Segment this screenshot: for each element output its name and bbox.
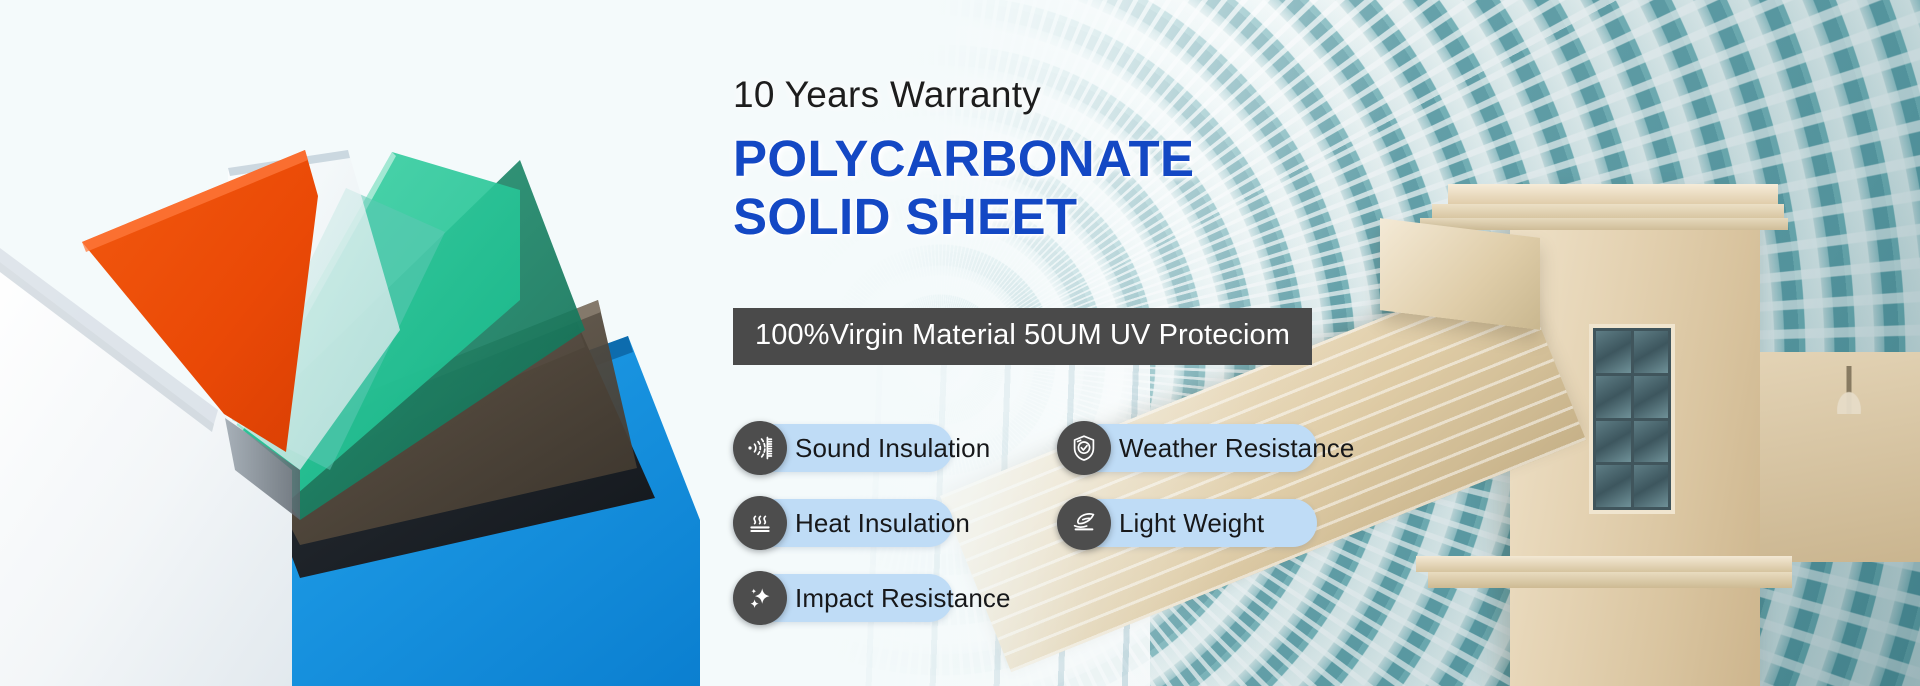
feature-light-weight[interactable]: Light Weight bbox=[1057, 499, 1317, 547]
tower-base-1 bbox=[1416, 556, 1792, 572]
tower-cornice-1 bbox=[1448, 184, 1778, 204]
feature-label: Heat Insulation bbox=[795, 508, 970, 539]
feature-heat-insulation[interactable]: Heat Insulation bbox=[733, 499, 953, 547]
subtitle-text: 100%Virgin Material 50UM UV Proteciom bbox=[755, 319, 1290, 351]
product-photo bbox=[0, 0, 700, 686]
tower-base-2 bbox=[1428, 572, 1792, 588]
feature-impact-resistance[interactable]: Impact Resistance bbox=[733, 574, 953, 622]
feature-label: Impact Resistance bbox=[795, 583, 1011, 614]
sparkle-icon bbox=[733, 571, 787, 625]
product-banner: 10 Years Warranty POLYCARBONATE SOLID SH… bbox=[0, 0, 1920, 686]
feature-row-1: Heat Insulation Light We bbox=[733, 499, 1373, 574]
tower-shelf bbox=[1380, 218, 1540, 330]
shield-check-icon bbox=[1057, 421, 1111, 475]
feature-label: Sound Insulation bbox=[795, 433, 990, 464]
page-title: POLYCARBONATE SOLID SHEET bbox=[733, 130, 1194, 246]
subtitle-bar: 100%Virgin Material 50UM UV Proteciom bbox=[733, 308, 1312, 365]
feature-row-0: Sound Insulation bbox=[733, 424, 1373, 499]
headline-line-1: POLYCARBONATE bbox=[733, 130, 1194, 188]
feature-label: Weather Resistance bbox=[1119, 433, 1354, 464]
feature-label: Light Weight bbox=[1119, 508, 1264, 539]
feature-sound-insulation[interactable]: Sound Insulation bbox=[733, 424, 953, 472]
warranty-kicker: 10 Years Warranty bbox=[733, 74, 1041, 116]
tower-cornice-2 bbox=[1432, 204, 1784, 218]
chandelier-icon bbox=[1820, 366, 1878, 414]
heat-waves-icon bbox=[733, 496, 787, 550]
feature-list: Sound Insulation bbox=[733, 424, 1373, 649]
paned-window bbox=[1589, 324, 1675, 514]
feature-weather-resistance[interactable]: Weather Resistance bbox=[1057, 424, 1317, 472]
sound-wave-icon bbox=[733, 421, 787, 475]
tower-cornice-3 bbox=[1420, 218, 1788, 230]
feature-row-2: Impact Resistance bbox=[733, 574, 1373, 649]
feather-icon bbox=[1057, 496, 1111, 550]
headline-line-2: SOLID SHEET bbox=[733, 188, 1194, 246]
